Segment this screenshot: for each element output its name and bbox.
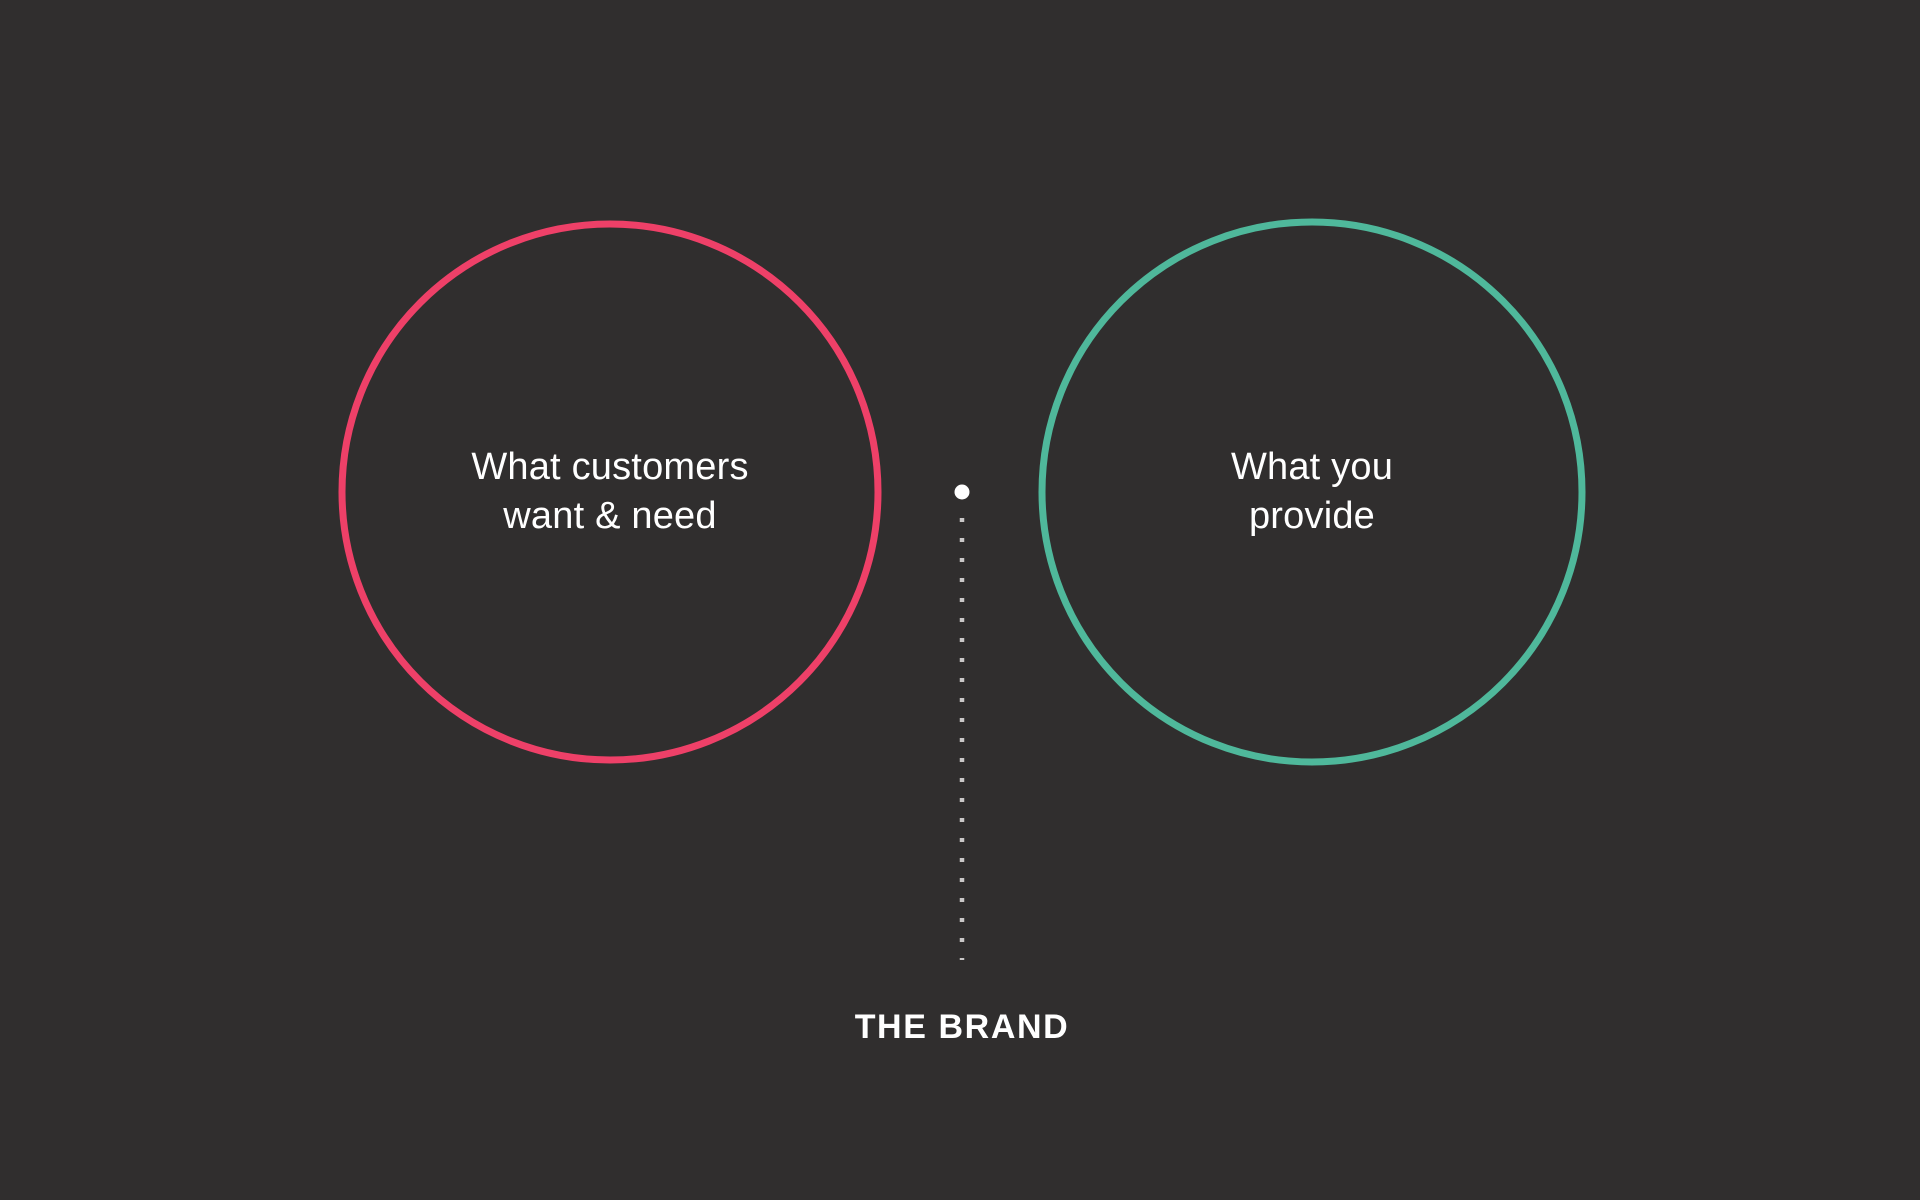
slide-canvas: What customers want & need What you prov… — [0, 0, 1920, 1200]
brand-caption: THE BRAND — [562, 1008, 1362, 1047]
circle-provide — [1042, 222, 1582, 762]
intersection-dot-icon — [955, 485, 970, 500]
circle-customers — [342, 224, 878, 760]
